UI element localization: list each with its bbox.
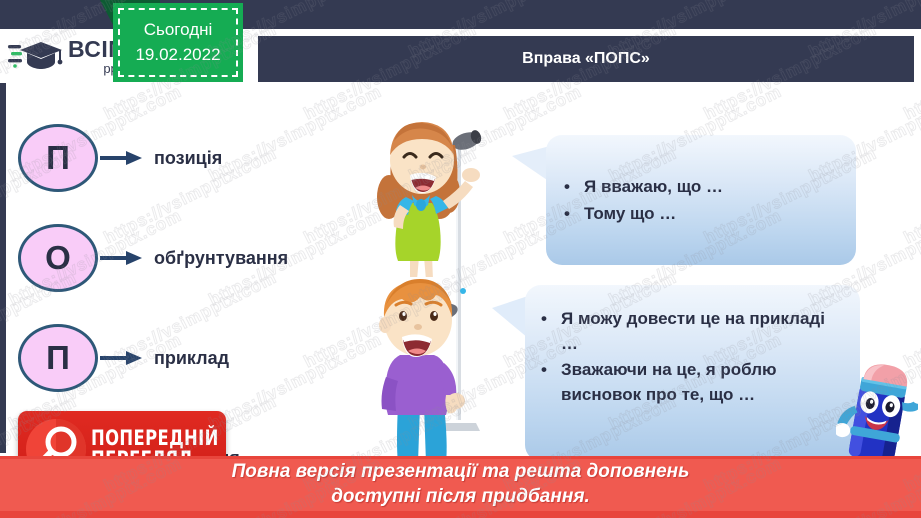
- pops-label: позиція: [154, 148, 222, 169]
- pops-letter-circle: П: [18, 124, 98, 192]
- pops-row-position: П позиція: [18, 108, 348, 208]
- pops-letter: П: [46, 139, 70, 177]
- bubble-line: Тому що …: [558, 202, 840, 227]
- speech-bubble-position: Я вважаю, що … Тому що …: [546, 135, 856, 265]
- bubble-line: Я можу довести це на прикладі …: [535, 307, 846, 356]
- bubble-tail: [492, 296, 528, 338]
- arrow-right-icon: [100, 149, 142, 167]
- pops-letter: П: [46, 339, 70, 377]
- date-badge: Сьогодні 19.02.2022: [113, 3, 243, 82]
- pops-letter: О: [45, 239, 71, 277]
- left-accent-rail: [0, 83, 6, 453]
- bubble-line: Я вважаю, що …: [558, 175, 840, 200]
- slide-title-bar: Вправа «ПОПС»: [258, 36, 914, 82]
- arrow-right-icon: [100, 249, 142, 267]
- banner-line2: доступні після придбання.: [331, 485, 590, 510]
- slide-canvas: ВСІМ pptx Сьогодні 19.02.2022 Вправа «ПО…: [0, 0, 921, 518]
- date-badge-label: Сьогодні: [144, 18, 213, 43]
- page-title: Вправа «ПОПС»: [522, 50, 650, 68]
- preview-badge-line1: ПОПЕРЕДНІЙ: [91, 428, 219, 449]
- watermark-text: https://vsimpptx.com: [901, 268, 921, 373]
- watermark-text: https://vsimpptx.com: [901, 144, 921, 249]
- kids-at-microphone-illustration: [338, 105, 538, 465]
- pops-row-example: П приклад: [18, 308, 348, 408]
- pops-letter-circle: П: [18, 324, 98, 392]
- pops-label: обґрунтування: [154, 248, 288, 269]
- bubble-line: Зважаючи на це, я роблю висновок про те,…: [535, 358, 846, 407]
- speech-bubble-example: Я можу довести це на прикладі … Зважаючи…: [525, 285, 860, 461]
- bottom-banner: Повна версія презентації та решта доповн…: [0, 456, 921, 518]
- pops-row-justification: О обґрунтування: [18, 208, 348, 308]
- banner-line1: Повна версія презентації та решта доповн…: [232, 460, 690, 485]
- bubble-tail: [512, 146, 550, 182]
- graduation-cap-icon: [8, 39, 64, 73]
- pops-label: приклад: [154, 348, 229, 369]
- pops-letter-circle: О: [18, 224, 98, 292]
- arrow-right-icon: [100, 349, 142, 367]
- date-badge-value: 19.02.2022: [135, 43, 220, 68]
